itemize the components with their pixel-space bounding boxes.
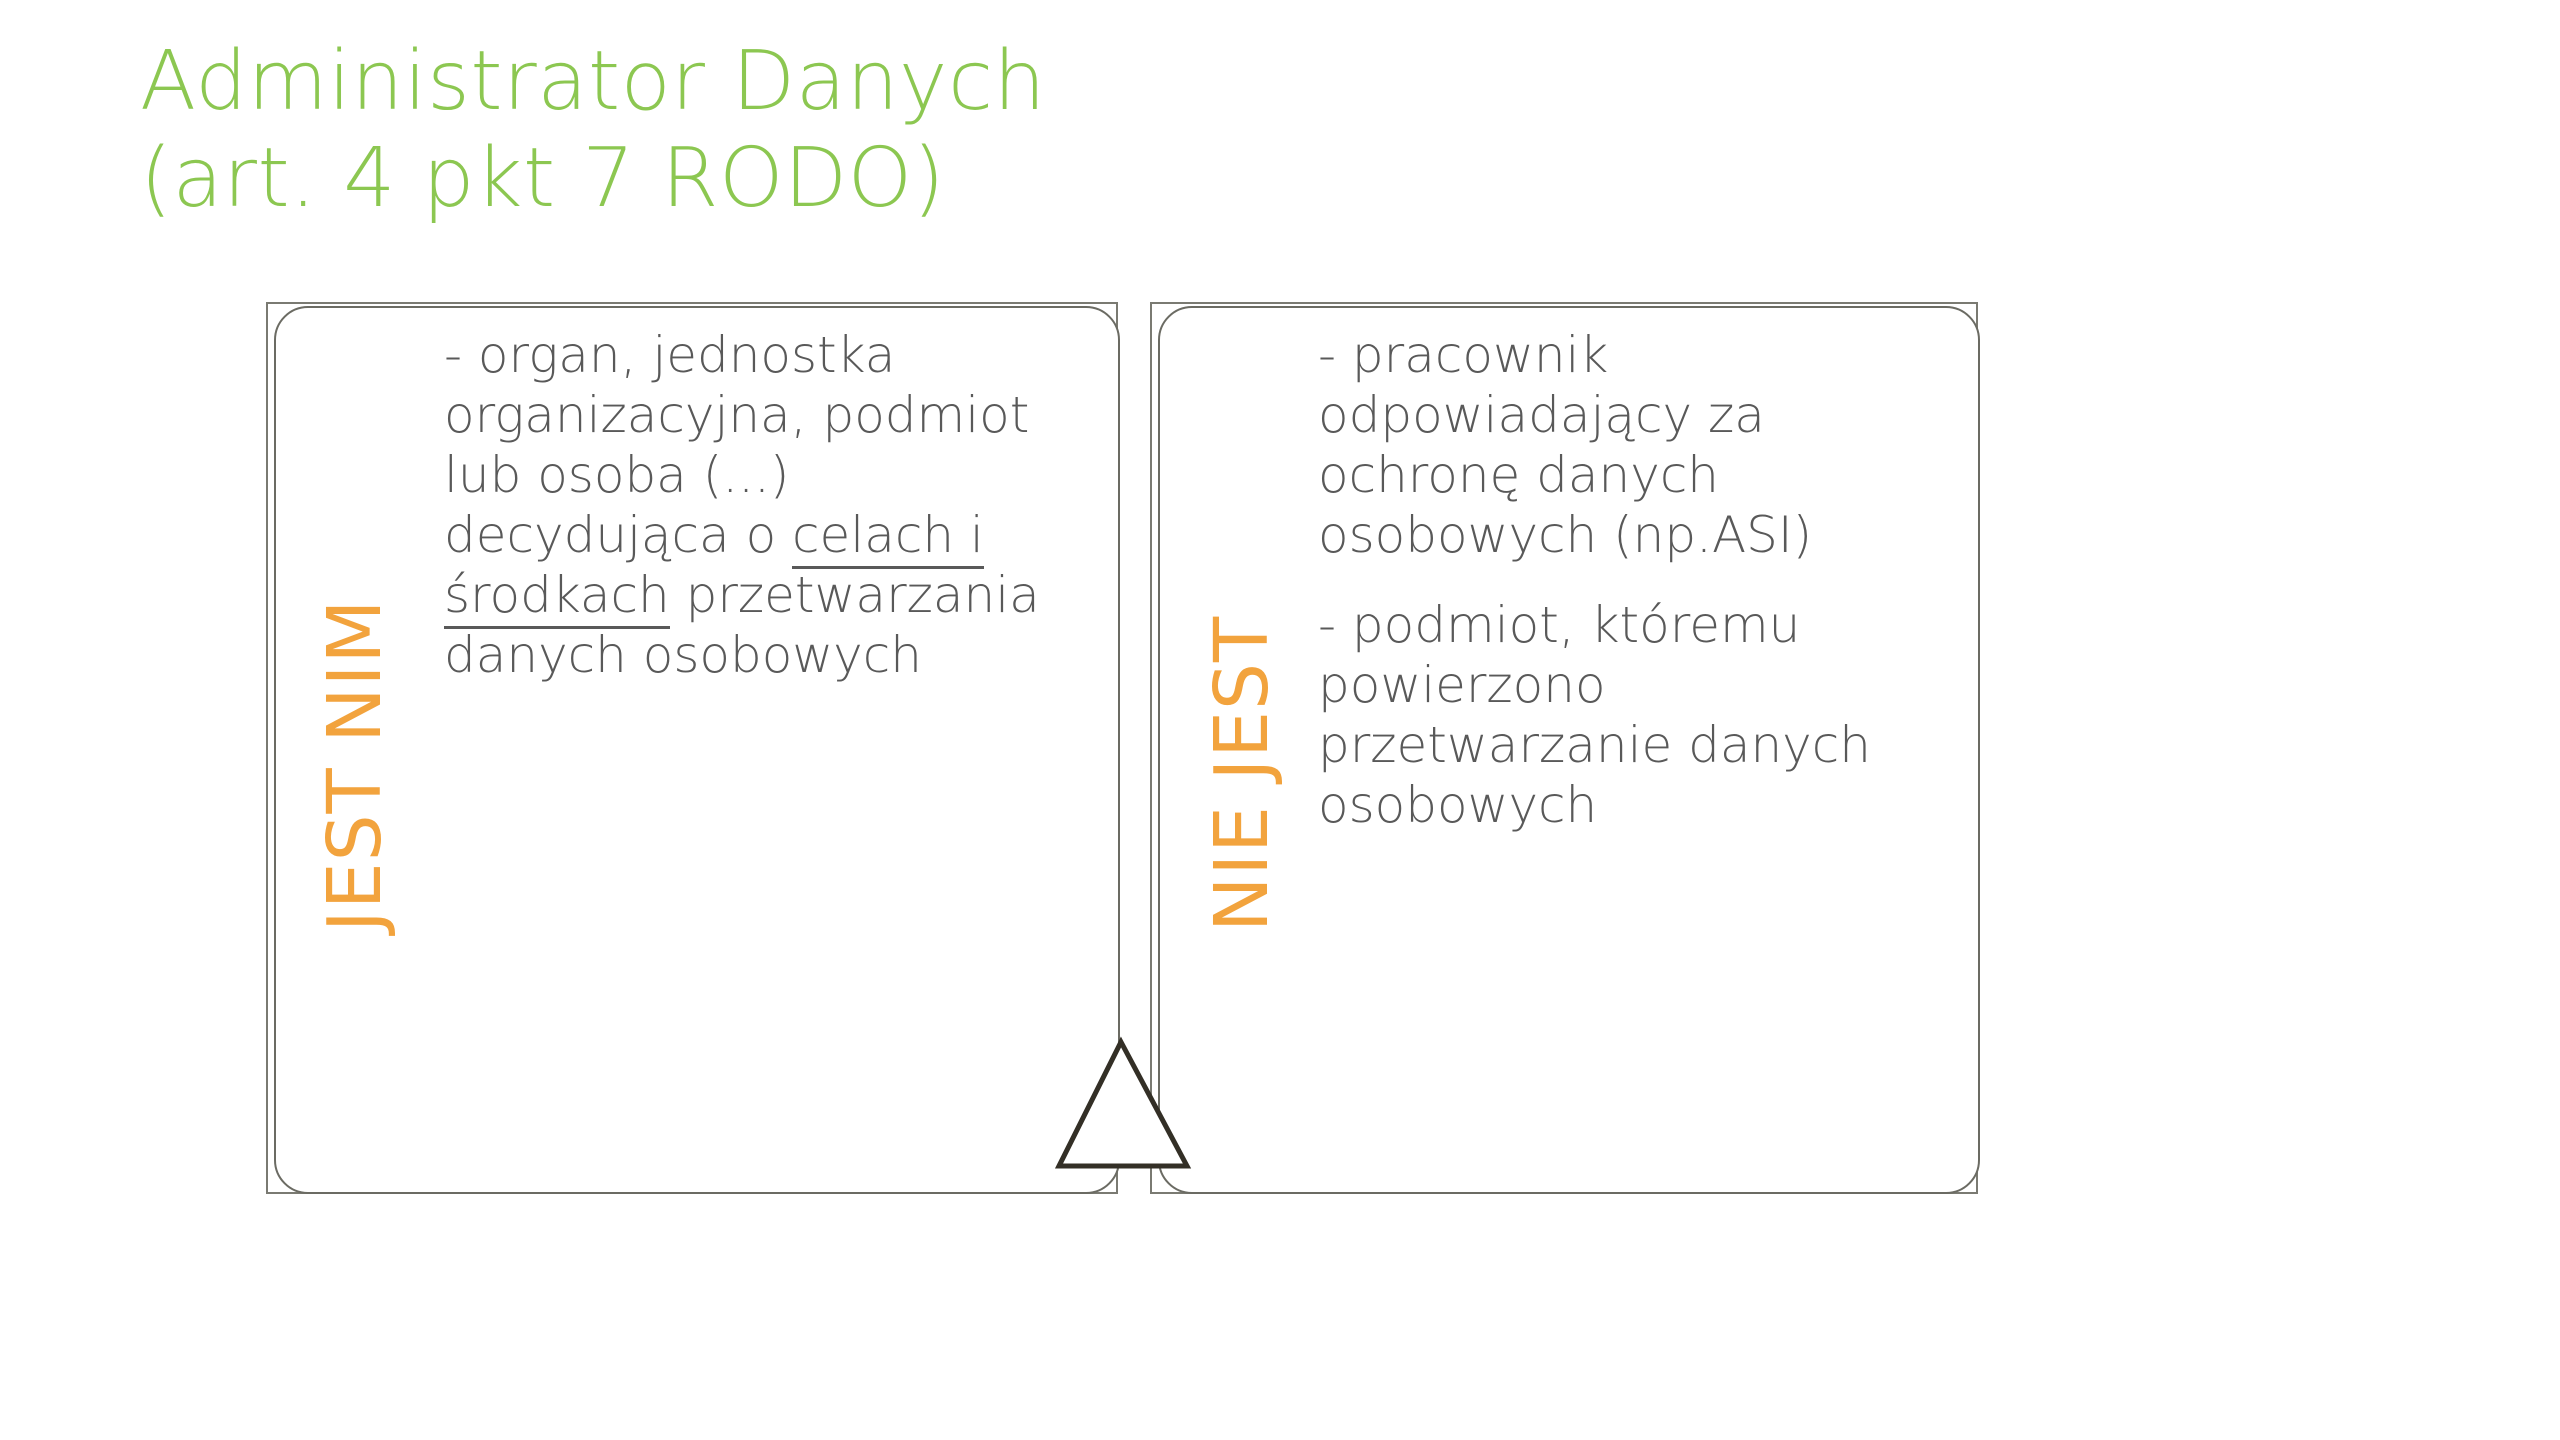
slide-canvas: Administrator Danych (art. 4 pkt 7 RODO)… xyxy=(0,0,2560,1440)
right-panel-bullet-2: - podmiot, któremu powierzono przetwarza… xyxy=(1318,595,1968,835)
left-panel-body-text: - organ, jednostka organizacyjna, podmio… xyxy=(444,325,1084,685)
comparison-diagram: JEST NIM NIE JEST - organ, jednostka org… xyxy=(0,0,2560,1440)
left-panel-bullet: - organ, jednostka organizacyjna, podmio… xyxy=(444,325,1084,685)
right-panel-bullet-1: - pracownik odpowiadający za ochronę dan… xyxy=(1318,325,1968,565)
right-panel-body-text: - pracownik odpowiadający za ochronę dan… xyxy=(1318,325,1968,835)
right-panel-vertical-label: NIE JEST xyxy=(1205,412,1277,932)
left-panel-vertical-label: JEST NIM xyxy=(318,412,390,932)
